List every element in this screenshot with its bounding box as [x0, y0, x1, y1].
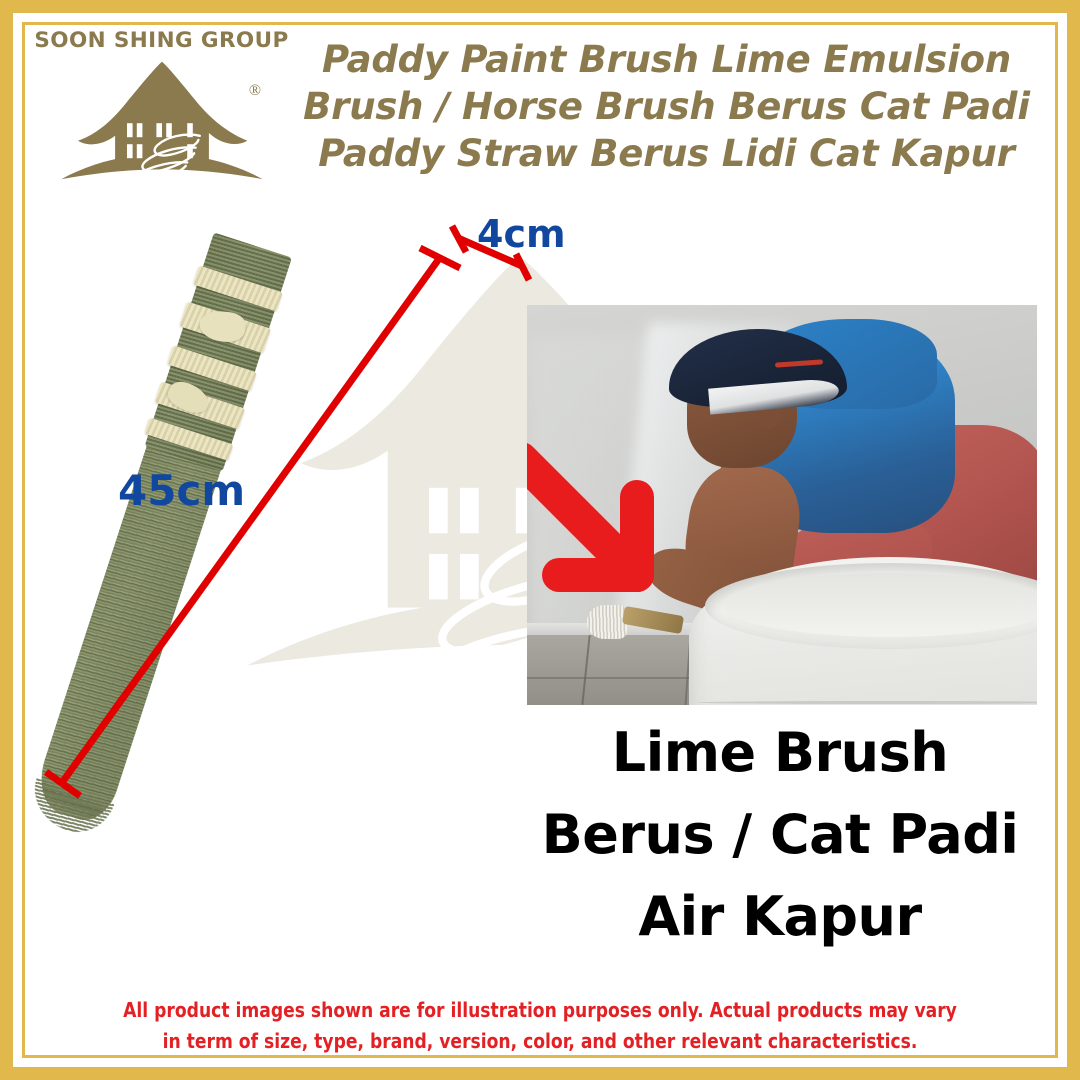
- brush-body: [27, 232, 294, 829]
- title-line-2: Brush / Horse Brush Berus Cat Padi: [289, 83, 1044, 130]
- disclaimer-line-1: All product images shown are for illustr…: [75, 995, 1005, 1026]
- photo-bucket-interior: [723, 573, 1037, 637]
- header: SOON SHING GROUP: [34, 28, 1044, 203]
- house-logo-icon: ®: [34, 56, 289, 196]
- product-name-line-3: Air Kapur: [520, 876, 1040, 958]
- page-title: Paddy Paint Brush Lime Emulsion Brush / …: [289, 28, 1044, 177]
- brand-name: SOON SHING GROUP: [34, 28, 289, 53]
- registered-trademark-icon: ®: [249, 82, 261, 100]
- paddy-straw-brush-image: [60, 225, 530, 905]
- pointer-arrow-icon: [527, 425, 707, 645]
- brand-logo: SOON SHING GROUP: [34, 28, 289, 196]
- length-dimension-label: 45cm: [118, 466, 245, 515]
- width-dimension-label: 4cm: [477, 212, 566, 256]
- product-name-line-1: Lime Brush: [520, 712, 1040, 794]
- disclaimer-line-2: in term of size, type, brand, version, c…: [75, 1026, 1005, 1057]
- disclaimer: All product images shown are for illustr…: [40, 995, 1040, 1057]
- title-line-3: Paddy Straw Berus Lidi Cat Kapur: [289, 130, 1044, 177]
- worker-applying-lime-wash-photo: [527, 305, 1037, 705]
- title-line-1: Paddy Paint Brush Lime Emulsion: [289, 36, 1044, 83]
- product-name: Lime Brush Berus / Cat Padi Air Kapur: [520, 712, 1040, 958]
- product-listing-image: SOON SHING GROUP: [0, 0, 1080, 1080]
- product-name-line-2: Berus / Cat Padi: [520, 794, 1040, 876]
